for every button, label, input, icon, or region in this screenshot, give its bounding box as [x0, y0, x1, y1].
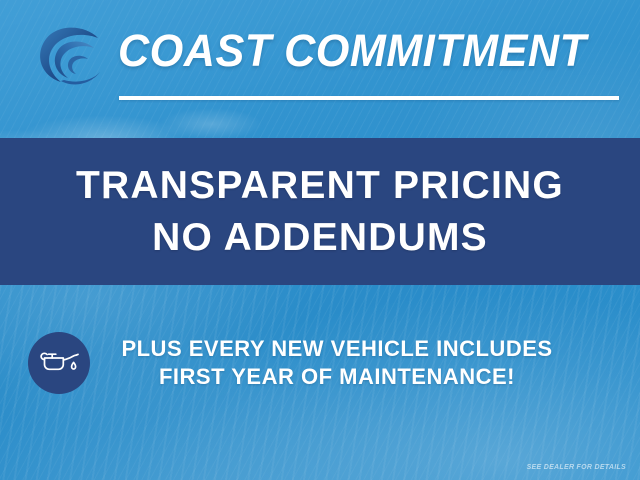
coast-commitment-banner: COAST COMMITMENT TRANSPARENT PRICING NO …	[0, 0, 640, 480]
promo-line-maintenance: FIRST YEAR OF MAINTENANCE!	[90, 363, 584, 391]
promo-line-includes: PLUS EVERY NEW VEHICLE INCLUDES	[90, 335, 584, 363]
headline-line-transparent-pricing: TRANSPARENT PRICING	[76, 160, 564, 212]
brand-title: COAST COMMITMENT	[118, 22, 610, 80]
headline-band: TRANSPARENT PRICING NO ADDENDUMS	[0, 138, 640, 285]
promo-text: PLUS EVERY NEW VEHICLE INCLUDES FIRST YE…	[90, 335, 640, 391]
promo-badge	[28, 332, 90, 394]
coast-wave-swirl-icon	[28, 18, 112, 92]
promo-row: PLUS EVERY NEW VEHICLE INCLUDES FIRST YE…	[0, 322, 640, 404]
oil-can-icon	[38, 344, 80, 383]
headline-line-no-addendums: NO ADDENDUMS	[152, 212, 488, 264]
disclaimer-text: SEE DEALER FOR DETAILS	[527, 464, 626, 471]
banner-header: COAST COMMITMENT	[0, 0, 640, 138]
header-divider	[119, 96, 619, 100]
